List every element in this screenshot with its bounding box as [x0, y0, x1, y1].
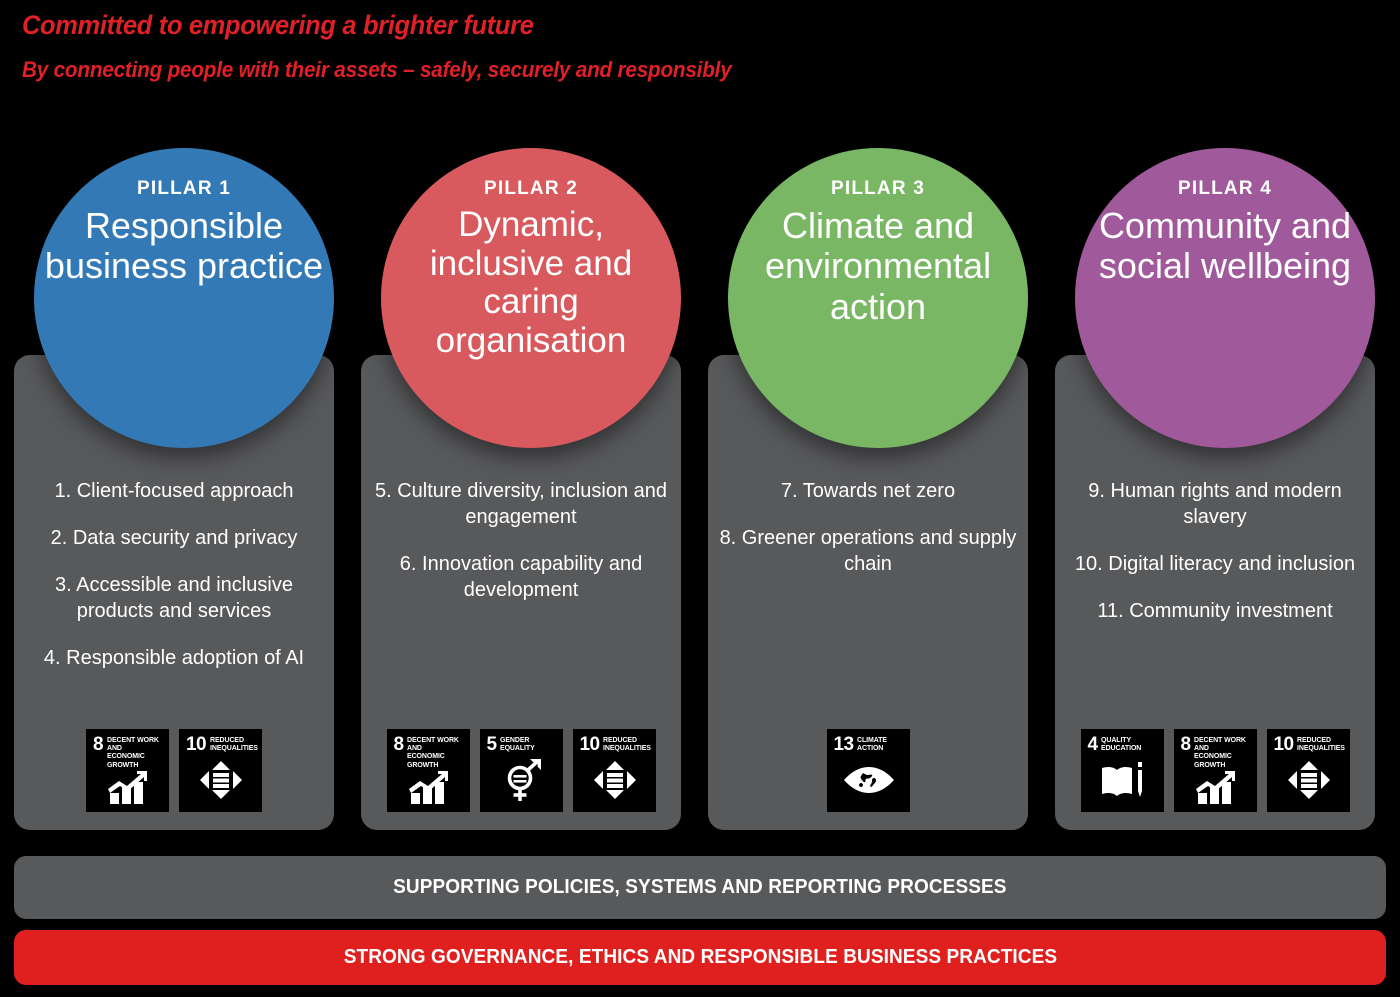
- sdg-label: Climate action: [857, 736, 901, 752]
- pillar-1-kicker: PILLAR 1: [137, 178, 231, 200]
- pillar-3-title: Climate and environmental action: [728, 206, 1028, 327]
- pillar-1-circle: PILLAR 1 Responsible business practice: [34, 148, 334, 448]
- sdg-number: 10: [186, 736, 206, 753]
- sdg-number: 10: [580, 736, 600, 753]
- sdg-growth-chart-icon: [1181, 769, 1251, 807]
- sdg-gender-symbol-icon: [487, 753, 557, 807]
- sdg-label: Reduced inequalities: [603, 736, 651, 752]
- pillars-container: PILLAR 1 Responsible business practice 1…: [0, 0, 1400, 840]
- sdg-equal-arrows-icon: [580, 753, 650, 807]
- pillar-4-title: Community and social wellbeing: [1075, 206, 1375, 287]
- sdg-globe-eye-icon: [834, 753, 904, 807]
- pillar-1-sdg-row: 8 Decent work and economic growth 10 Red…: [14, 729, 334, 812]
- pillar-1: PILLAR 1 Responsible business practice 1…: [14, 0, 354, 840]
- list-item: 9. Human rights and modern slavery: [1065, 478, 1365, 530]
- sdg-badge-13: 13 Climate action: [827, 729, 910, 812]
- sdg-label: Reduced inequalities: [1297, 736, 1345, 752]
- supporting-policies-bar: SUPPORTING POLICIES, SYSTEMS AND REPORTI…: [14, 856, 1386, 919]
- pillar-4-topics: 9. Human rights and modern slavery 10. D…: [1065, 478, 1365, 645]
- list-item: 7. Towards net zero: [718, 478, 1018, 504]
- pillar-4: PILLAR 4 Community and social wellbeing …: [1055, 0, 1395, 840]
- sdg-badge-8: 8 Decent work and economic growth: [1174, 729, 1257, 812]
- pillar-2-sdg-row: 8 Decent work and economic growth 5 Gend…: [361, 729, 681, 812]
- sdg-number: 10: [1274, 736, 1294, 753]
- pillar-4-kicker: PILLAR 4: [1178, 178, 1272, 200]
- supporting-policies-label: SUPPORTING POLICIES, SYSTEMS AND REPORTI…: [393, 876, 1006, 899]
- sdg-badge-5: 5 Gender equality: [480, 729, 563, 812]
- sdg-number: 8: [93, 736, 103, 753]
- sdg-number: 13: [834, 736, 854, 753]
- pillar-3: PILLAR 3 Climate and environmental actio…: [708, 0, 1048, 840]
- sdg-equal-arrows-icon: [186, 753, 256, 807]
- sdg-number: 5: [487, 736, 497, 753]
- sdg-label: Reduced inequalities: [210, 736, 258, 752]
- pillar-3-sdg-row: 13 Climate action: [708, 729, 1028, 812]
- list-item: 8. Greener operations and supply chain: [718, 525, 1018, 577]
- sdg-equal-arrows-icon: [1274, 753, 1344, 807]
- sdg-label: Quality education: [1101, 736, 1155, 752]
- list-item: 3. Accessible and inclusive products and…: [24, 572, 324, 624]
- pillar-3-circle: PILLAR 3 Climate and environmental actio…: [728, 148, 1028, 448]
- sdg-badge-10: 10 Reduced inequalities: [179, 729, 262, 812]
- pillar-3-kicker: PILLAR 3: [831, 178, 925, 200]
- pillar-4-circle: PILLAR 4 Community and social wellbeing: [1075, 148, 1375, 448]
- sdg-badge-10: 10 Reduced inequalities: [573, 729, 656, 812]
- sdg-badge-8: 8 Decent work and economic growth: [387, 729, 470, 812]
- pillar-1-topics: 1. Client-focused approach 2. Data secur…: [24, 478, 324, 692]
- pillar-2-circle: PILLAR 2 Dynamic, inclusive and caring o…: [381, 148, 681, 448]
- pillar-2-topics: 5. Culture diversity, inclusion and enga…: [371, 478, 671, 624]
- pillar-4-sdg-row: 4 Quality education 8 Decent work and ec…: [1055, 729, 1375, 812]
- sdg-label: Decent work and economic growth: [407, 736, 461, 769]
- sdg-label: Gender equality: [500, 736, 554, 752]
- sdg-growth-chart-icon: [394, 769, 464, 807]
- list-item: 1. Client-focused approach: [24, 478, 324, 504]
- sdg-badge-8: 8 Decent work and economic growth: [86, 729, 169, 812]
- sdg-badge-4: 4 Quality education: [1081, 729, 1164, 812]
- list-item: 4. Responsible adoption of AI: [24, 645, 324, 671]
- governance-label: STRONG GOVERNANCE, ETHICS AND RESPONSIBL…: [343, 946, 1056, 969]
- sdg-growth-chart-icon: [93, 769, 163, 807]
- pillar-2: PILLAR 2 Dynamic, inclusive and caring o…: [361, 0, 701, 840]
- pillar-1-title: Responsible business practice: [34, 206, 334, 287]
- pillar-3-topics: 7. Towards net zero 8. Greener operation…: [718, 478, 1018, 598]
- pillar-2-title: Dynamic, inclusive and caring organisati…: [381, 206, 681, 360]
- sdg-label: Decent work and economic growth: [107, 736, 161, 769]
- sdg-number: 4: [1088, 736, 1098, 753]
- list-item: 5. Culture diversity, inclusion and enga…: [371, 478, 671, 530]
- list-item: 2. Data security and privacy: [24, 525, 324, 551]
- governance-bar: STRONG GOVERNANCE, ETHICS AND RESPONSIBL…: [14, 930, 1386, 985]
- sdg-number: 8: [1181, 736, 1191, 753]
- pillar-2-kicker: PILLAR 2: [484, 178, 578, 200]
- list-item: 10. Digital literacy and inclusion: [1065, 551, 1365, 577]
- list-item: 11. Community investment: [1065, 598, 1365, 624]
- sdg-badge-10: 10 Reduced inequalities: [1267, 729, 1350, 812]
- sdg-book-pencil-icon: [1088, 753, 1158, 807]
- sdg-number: 8: [394, 736, 404, 753]
- sdg-label: Decent work and economic growth: [1194, 736, 1248, 769]
- list-item: 6. Innovation capability and development: [371, 551, 671, 603]
